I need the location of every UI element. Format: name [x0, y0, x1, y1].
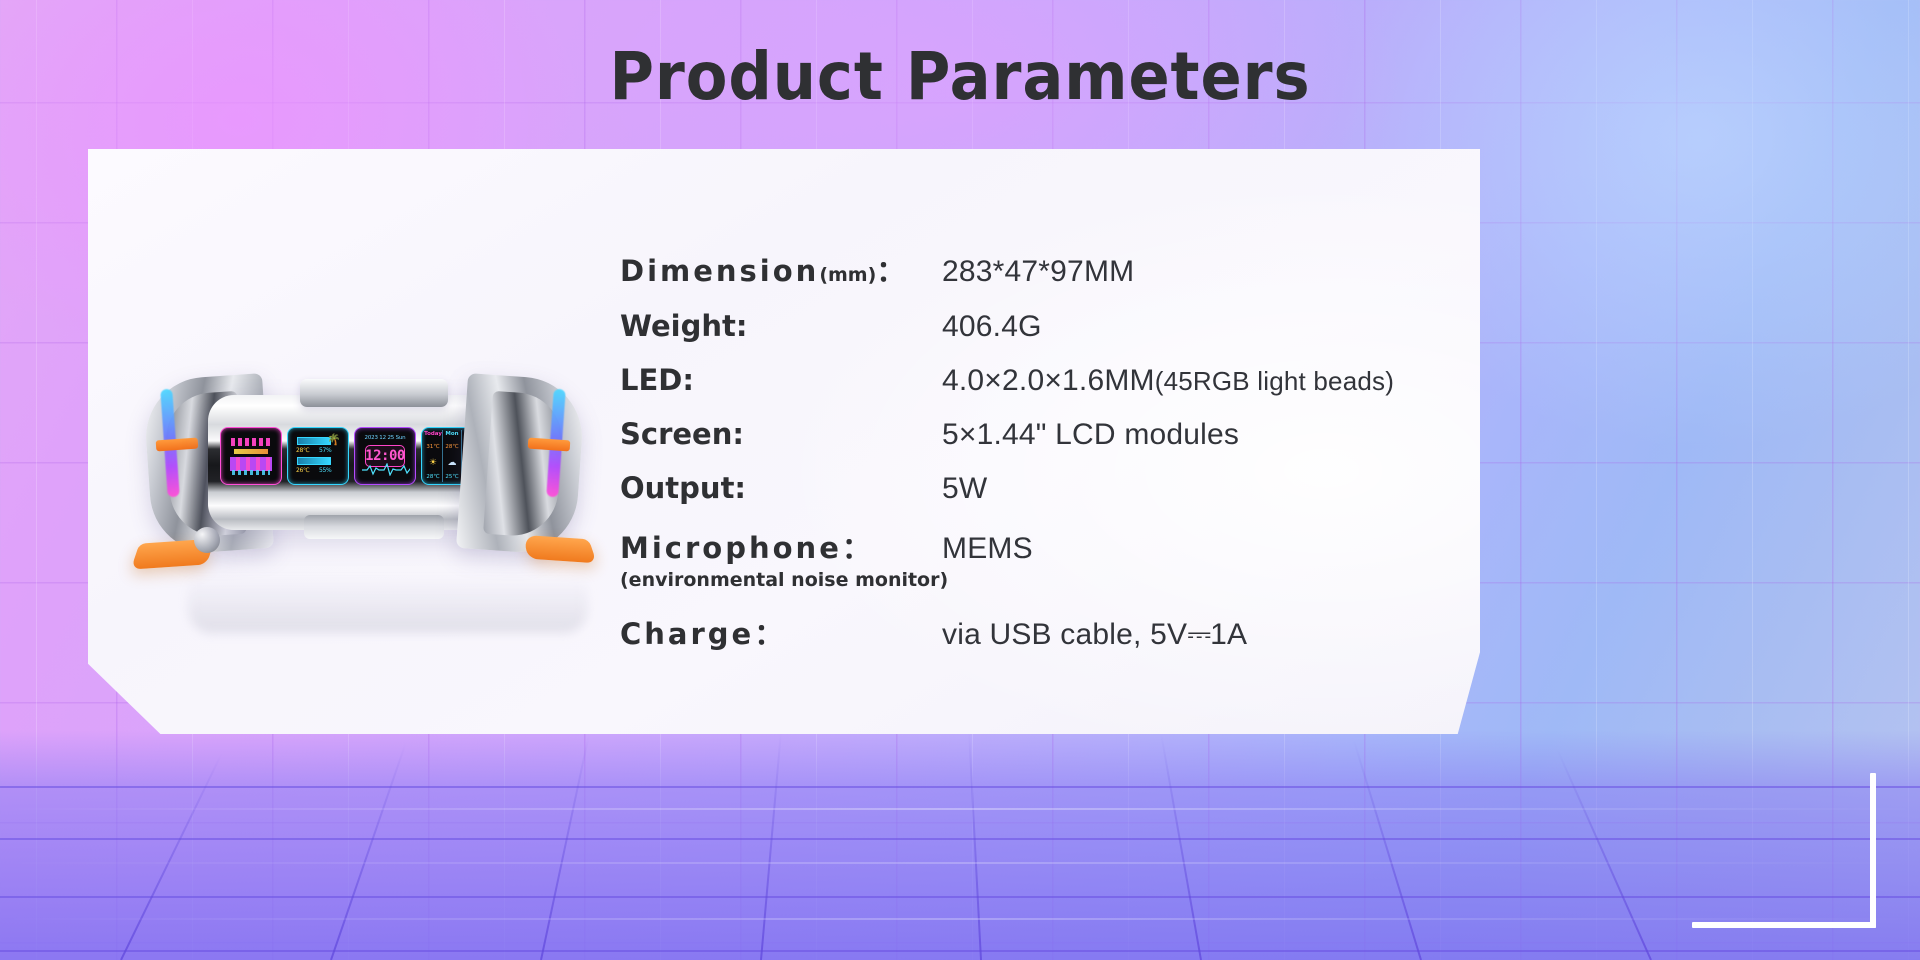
waveform-icon — [362, 463, 410, 476]
spec-label-weight: Weight: — [620, 309, 942, 343]
screen-temp-2: 26℃ — [296, 467, 309, 474]
corner-bracket-accent — [1870, 773, 1876, 928]
spec-row-dimension: Dimension(mm)： 283*47*97MM — [620, 248, 1500, 290]
page-title: Product Parameters — [77, 38, 1843, 115]
spec-row-screen: Screen: 5×1.44" LCD modules — [620, 417, 1500, 452]
device-screen-clock: 2023 12 25 Sun 12:00 — [354, 427, 416, 485]
weather-day-1-high: 28℃ — [445, 444, 458, 450]
weather-day-0-name: Today — [424, 431, 442, 437]
spec-sublabel-microphone: (environmental noise monitor) — [620, 569, 1500, 591]
screen-clock-date: 2023 12 25 Sun — [360, 435, 410, 441]
screen-humidity-1: 57% — [319, 447, 331, 454]
spec-value-led-extra: (45RGB light beads) — [1155, 366, 1394, 396]
weather-day-1-name: Mon — [445, 431, 458, 437]
spec-label-screen: Screen: — [620, 417, 942, 451]
device-reflection — [188, 567, 588, 633]
spec-label-charge: Charge： — [620, 611, 942, 653]
spec-label-microphone: Microphone： — [620, 525, 942, 567]
spec-label-charge-text: Charge — [620, 617, 754, 651]
device-screen-temperature-humidity: 28℃ 57% 26℃ 55% 🌴 — [287, 427, 349, 485]
spec-value-microphone: MEMS — [942, 532, 1033, 566]
spec-label-dimension-text: Dimension — [620, 254, 819, 288]
spec-label-dimension: Dimension(mm)： — [620, 248, 942, 290]
device-bottom-clamp — [304, 515, 444, 539]
spec-value-charge-suffix: 1A — [1210, 618, 1247, 651]
dc-power-icon: ⎓ — [1187, 618, 1210, 651]
spec-row-microphone: Microphone： MEMS — [620, 525, 1500, 567]
spec-row-weight: Weight: 406.4G — [620, 309, 1500, 344]
spec-value-led-main: 4.0×2.0×1.6MM — [942, 364, 1155, 397]
cloud-icon: ☁ — [448, 458, 457, 467]
device-right-cowl — [456, 373, 586, 556]
screen-humidity-2: 55% — [319, 467, 331, 474]
weather-day-1-low: 25℃ — [445, 474, 458, 480]
spec-value-output: 5W — [942, 472, 987, 506]
spec-value-charge-prefix: via USB cable, 5V — [942, 618, 1187, 651]
spec-value-weight: 406.4G — [942, 310, 1042, 344]
spec-value-screen: 5×1.44" LCD modules — [942, 418, 1239, 452]
spec-label-dimension-unit: (mm) — [819, 264, 876, 286]
screen-temp-1: 28℃ — [296, 447, 309, 454]
spec-row-output: Output: 5W — [620, 471, 1500, 506]
spec-label-microphone-text: Microphone — [620, 531, 842, 565]
spec-value-led: 4.0×2.0×1.6MM(45RGB light beads) — [942, 364, 1394, 398]
weather-day-0-high: 31℃ — [426, 444, 439, 450]
device-right-foot — [521, 535, 597, 564]
spec-label-output: Output: — [620, 471, 942, 505]
weather-day-0-low: 28℃ — [426, 474, 439, 480]
device-top-clamp — [300, 379, 448, 407]
device-left-knob — [194, 527, 220, 553]
spec-value-charge: via USB cable, 5V⎓1A — [942, 618, 1247, 652]
perspective-floor — [0, 730, 1920, 960]
plant-icon: 🌴 — [327, 435, 341, 446]
spec-row-charge: Charge： via USB cable, 5V⎓1A — [620, 611, 1500, 653]
spec-label-dimension-colon: ： — [876, 254, 908, 288]
product-device-image: 28℃ 57% 26℃ 55% 🌴 2023 12 25 Sun 12:00 T… — [128, 355, 598, 645]
spec-label-charge-colon: ： — [754, 617, 786, 651]
spec-label-led: LED: — [620, 363, 942, 397]
device-screen-logo — [220, 427, 282, 485]
specs-list: Dimension(mm)： 283*47*97MM Weight: 406.4… — [620, 248, 1500, 672]
spec-value-dimension: 283*47*97MM — [942, 255, 1134, 289]
screen-clock-time: 12:00 — [365, 448, 405, 464]
spec-row-led: LED: 4.0×2.0×1.6MM(45RGB light beads) — [620, 363, 1500, 398]
sun-icon: ☀ — [429, 458, 437, 467]
spec-label-microphone-colon: ： — [842, 531, 874, 565]
